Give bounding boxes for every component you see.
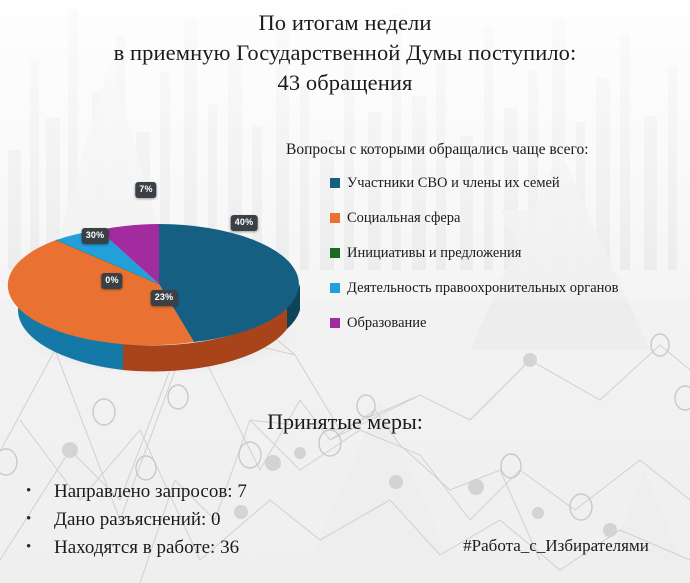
legend-item-list: Участники СВО и члены их семей Социальна… bbox=[286, 174, 686, 332]
legend-item-education: Образование bbox=[330, 314, 686, 332]
pie-label-social: 23% bbox=[151, 290, 178, 306]
pie-label-initiatives: 0% bbox=[101, 273, 122, 289]
slide-canvas: По итогам недели в приемную Государствен… bbox=[0, 0, 690, 583]
legend-swatch-icon-social bbox=[330, 213, 340, 223]
hashtag-text: #Работа_с_Избирателями bbox=[430, 535, 682, 557]
slide-title: По итогам недели в приемную Государствен… bbox=[0, 8, 690, 98]
pie-chart: 40% 23% 0% 30% 7% bbox=[12, 138, 312, 378]
legend-label-svo: Участники СВО и члены их семей bbox=[347, 174, 560, 192]
list-item: Направлено запросов: 7 bbox=[18, 478, 438, 506]
legend-item-svo: Участники СВО и члены их семей bbox=[330, 174, 686, 192]
chart-legend: Вопросы с которыми обращались чаще всего… bbox=[286, 140, 686, 332]
legend-item-initiatives: Инициативы и предложения bbox=[330, 244, 686, 262]
legend-label-education: Образование bbox=[347, 314, 426, 332]
legend-swatch-icon-initiatives bbox=[330, 248, 340, 258]
pie-chart-svg bbox=[12, 138, 312, 378]
legend-swatch-icon-education bbox=[330, 318, 340, 328]
legend-swatch-icon-lawenforcement bbox=[330, 283, 340, 293]
legend-label-social: Социальная сфера bbox=[347, 209, 460, 227]
legend-label-initiatives: Инициативы и предложения bbox=[347, 244, 521, 262]
list-item: Дано разъяснений: 0 bbox=[18, 506, 438, 534]
legend-swatch-icon-svo bbox=[330, 178, 340, 188]
title-line-2: в приемную Государственной Думы поступил… bbox=[0, 38, 690, 68]
pie-label-lawenforcement: 30% bbox=[82, 228, 109, 244]
legend-label-lawenforcement: Деятельность правоохронительных органов bbox=[347, 279, 619, 297]
pie-label-education: 7% bbox=[135, 182, 156, 198]
legend-item-lawenforcement: Деятельность правоохронительных органов bbox=[330, 279, 686, 297]
measures-heading: Принятые меры: bbox=[0, 408, 690, 436]
legend-heading: Вопросы с которыми обращались чаще всего… bbox=[286, 140, 686, 160]
title-line-3: 43 обращения bbox=[0, 68, 690, 98]
pie-label-svo: 40% bbox=[231, 215, 258, 231]
list-item: Находятся в работе: 36 bbox=[18, 534, 438, 562]
title-line-1: По итогам недели bbox=[0, 8, 690, 38]
measures-list: Направлено запросов: 7 Дано разъяснений:… bbox=[18, 478, 438, 562]
legend-item-social: Социальная сфера bbox=[330, 209, 686, 227]
